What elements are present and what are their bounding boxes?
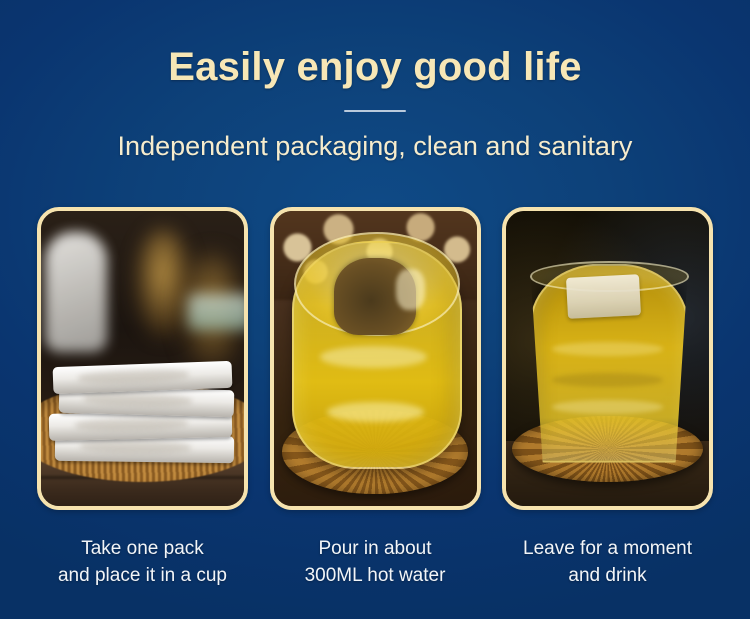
floating-teabag <box>334 258 415 335</box>
caption-line: Take one pack <box>23 536 263 563</box>
page-subtitle: Independent packaging, clean and sanitar… <box>0 116 750 162</box>
blurred-teal-object <box>188 294 244 330</box>
title-divider <box>344 110 406 112</box>
promo-banner: Easily enjoy good life Independent packa… <box>0 0 750 619</box>
caption-line: 300ML hot water <box>255 563 495 590</box>
caption-line: Pour in about <box>255 536 495 563</box>
banner-header: Easily enjoy good life Independent packa… <box>0 0 750 162</box>
step-card-2: Pour in about 300ML hot water <box>270 207 481 590</box>
steps-row: Take one pack and place it in a cup <box>37 207 713 590</box>
photo-brewed-tea <box>506 211 709 506</box>
photo-frame-3 <box>502 207 713 510</box>
step-caption-3: Leave for a moment and drink <box>488 536 728 590</box>
caption-line: and place it in a cup <box>23 563 263 590</box>
glass-glare <box>320 346 427 368</box>
photo-frame-2 <box>270 207 481 510</box>
step-card-1: Take one pack and place it in a cup <box>37 207 248 590</box>
photo-tea-sachets <box>41 211 244 506</box>
title-divider-wrap <box>0 106 750 116</box>
photo-glass-top-view <box>274 211 477 506</box>
step-card-3: Leave for a moment and drink <box>502 207 713 590</box>
blurred-white-object <box>45 232 107 352</box>
step-caption-1: Take one pack and place it in a cup <box>23 536 263 590</box>
glass-glare <box>327 402 424 422</box>
caption-line: Leave for a moment <box>488 536 728 563</box>
photo-frame-1 <box>37 207 248 510</box>
step-caption-2: Pour in about 300ML hot water <box>255 536 495 590</box>
page-title: Easily enjoy good life <box>0 0 750 90</box>
steeping-teabag <box>566 274 641 319</box>
caption-line: and drink <box>488 563 728 590</box>
